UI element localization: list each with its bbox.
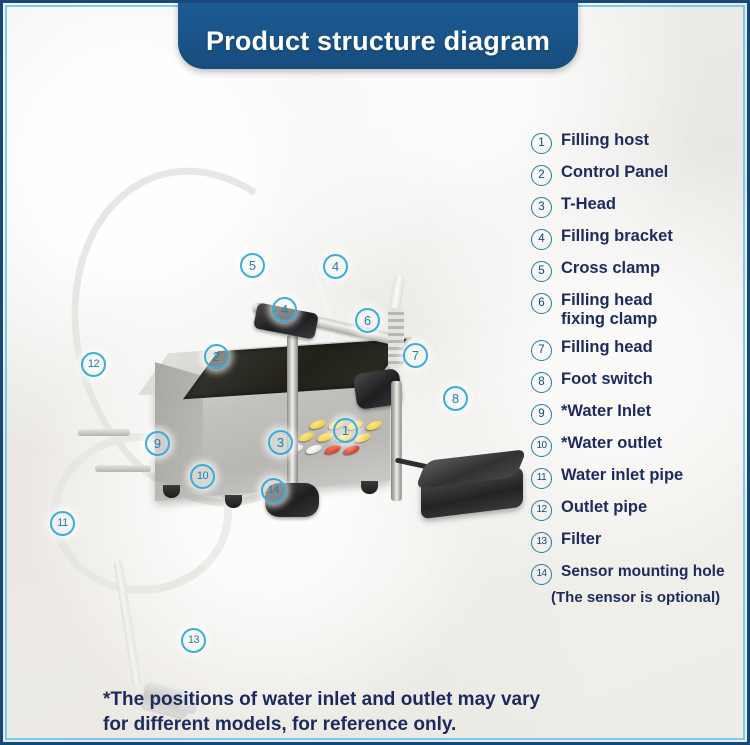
footer-line-2: for different models, for reference only…: [103, 712, 663, 737]
legend-badge-8: 8: [531, 372, 552, 393]
legend-badge-7: 7: [531, 340, 552, 361]
page-title: Product structure diagram: [206, 26, 550, 57]
callout-t-head[interactable]: 3: [268, 430, 293, 455]
product-structure-diagram-page: Product structure diagram: [0, 0, 750, 745]
callout-cross-clamp[interactable]: 5: [240, 253, 265, 278]
water-inlet-nipple: [78, 429, 130, 436]
footer-line-1: *The positions of water inlet and outlet…: [103, 687, 663, 712]
callout-filling-bracket-post[interactable]: 4: [272, 297, 297, 322]
legend-label-filling-head-fixing-clamp: Filling head fixing clamp: [561, 291, 657, 329]
legend-item-water-inlet-pipe[interactable]: 11 Water inlet pipe: [531, 466, 739, 489]
panel-button-white[interactable]: [303, 444, 324, 454]
callout-water-outlet[interactable]: 10: [190, 464, 215, 489]
legend-badge-6: 6: [531, 293, 552, 314]
panel-button-red[interactable]: [322, 445, 343, 455]
legend-item-foot-switch[interactable]: 8 Foot switch: [531, 370, 739, 393]
legend-item-cross-clamp[interactable]: 5 Cross clamp: [531, 259, 739, 282]
legend-list: 1 Filling host 2 Control Panel 3 T-Head …: [531, 131, 739, 606]
legend-label-filter: Filter: [561, 530, 601, 549]
legend-label-cross-clamp: Cross clamp: [561, 259, 660, 278]
legend-item-water-outlet[interactable]: 10 *Water outlet: [531, 434, 739, 457]
legend-item-filling-bracket[interactable]: 4 Filling bracket: [531, 227, 739, 250]
callout-water-inlet-pipe[interactable]: 11: [50, 511, 75, 536]
legend-label-outlet-pipe: Outlet pipe: [561, 498, 647, 517]
legend-badge-10: 10: [531, 436, 552, 457]
legend-label-t-head: T-Head: [561, 195, 616, 214]
panel-button-yellow[interactable]: [364, 420, 385, 430]
legend-item-filling-head-fixing-clamp[interactable]: 6 Filling head fixing clamp: [531, 291, 739, 329]
legend-label-water-inlet: *Water Inlet: [561, 402, 651, 421]
legend-item-sensor-mounting-hole[interactable]: 14 Sensor mounting hole: [531, 562, 739, 585]
legend-badge-2: 2: [531, 165, 552, 186]
callout-control-panel[interactable]: 2: [204, 344, 229, 369]
callout-outlet-pipe[interactable]: 12: [81, 352, 106, 377]
callout-water-inlet[interactable]: 9: [145, 431, 170, 456]
filling-head-nozzle: [391, 381, 402, 501]
legend-item-water-inlet[interactable]: 9 *Water Inlet: [531, 402, 739, 425]
legend-label-foot-switch: Foot switch: [561, 370, 653, 389]
legend-item-t-head[interactable]: 3 T-Head: [531, 195, 739, 218]
legend-badge-1: 1: [531, 133, 552, 154]
legend-badge-3: 3: [531, 197, 552, 218]
callout-filling-bracket-bar[interactable]: 4: [323, 254, 348, 279]
legend-badge-12: 12: [531, 500, 552, 521]
filling-head-barb: [388, 308, 404, 368]
legend-badge-13: 13: [531, 532, 552, 553]
header-banner: Product structure diagram: [178, 0, 578, 69]
legend-badge-14: 14: [531, 564, 552, 585]
legend-badge-9: 9: [531, 404, 552, 425]
product-photo: [3, 83, 533, 683]
filling-bracket-post: [287, 335, 298, 507]
callout-filling-head-fixing-clamp[interactable]: 6: [355, 308, 380, 333]
legend-badge-11: 11: [531, 468, 552, 489]
legend-item-filter[interactable]: 13 Filter: [531, 530, 739, 553]
legend-badge-5: 5: [531, 261, 552, 282]
legend-item-outlet-pipe[interactable]: 12 Outlet pipe: [531, 498, 739, 521]
callout-filter[interactable]: 13: [181, 628, 206, 653]
legend-label-filling-host: Filling host: [561, 131, 649, 150]
legend-label-sensor-mounting-hole: Sensor mounting hole: [561, 562, 725, 581]
legend-item-filling-head[interactable]: 7 Filling head: [531, 338, 739, 361]
legend-badge-4: 4: [531, 229, 552, 250]
legend-label-filling-head: Filling head: [561, 338, 653, 357]
legend-label-filling-bracket: Filling bracket: [561, 227, 673, 246]
callout-foot-switch[interactable]: 8: [443, 386, 468, 411]
legend-item-filling-host[interactable]: 1 Filling host: [531, 131, 739, 154]
machine-foot: [361, 481, 378, 494]
water-outlet-nipple: [95, 465, 151, 472]
legend-label-water-outlet: *Water outlet: [561, 434, 662, 453]
legend-label-control-panel: Control Panel: [561, 163, 668, 182]
callout-filling-host[interactable]: 1: [333, 418, 358, 443]
legend-item-control-panel[interactable]: 2 Control Panel: [531, 163, 739, 186]
legend-sensor-note: (The sensor is optional): [551, 589, 739, 606]
callout-sensor-mounting-hole[interactable]: 14: [261, 478, 286, 503]
footer-disclaimer: *The positions of water inlet and outlet…: [103, 687, 663, 737]
callout-filling-head[interactable]: 7: [403, 343, 428, 368]
legend-label-water-inlet-pipe: Water inlet pipe: [561, 466, 683, 485]
machine-foot: [225, 495, 242, 508]
